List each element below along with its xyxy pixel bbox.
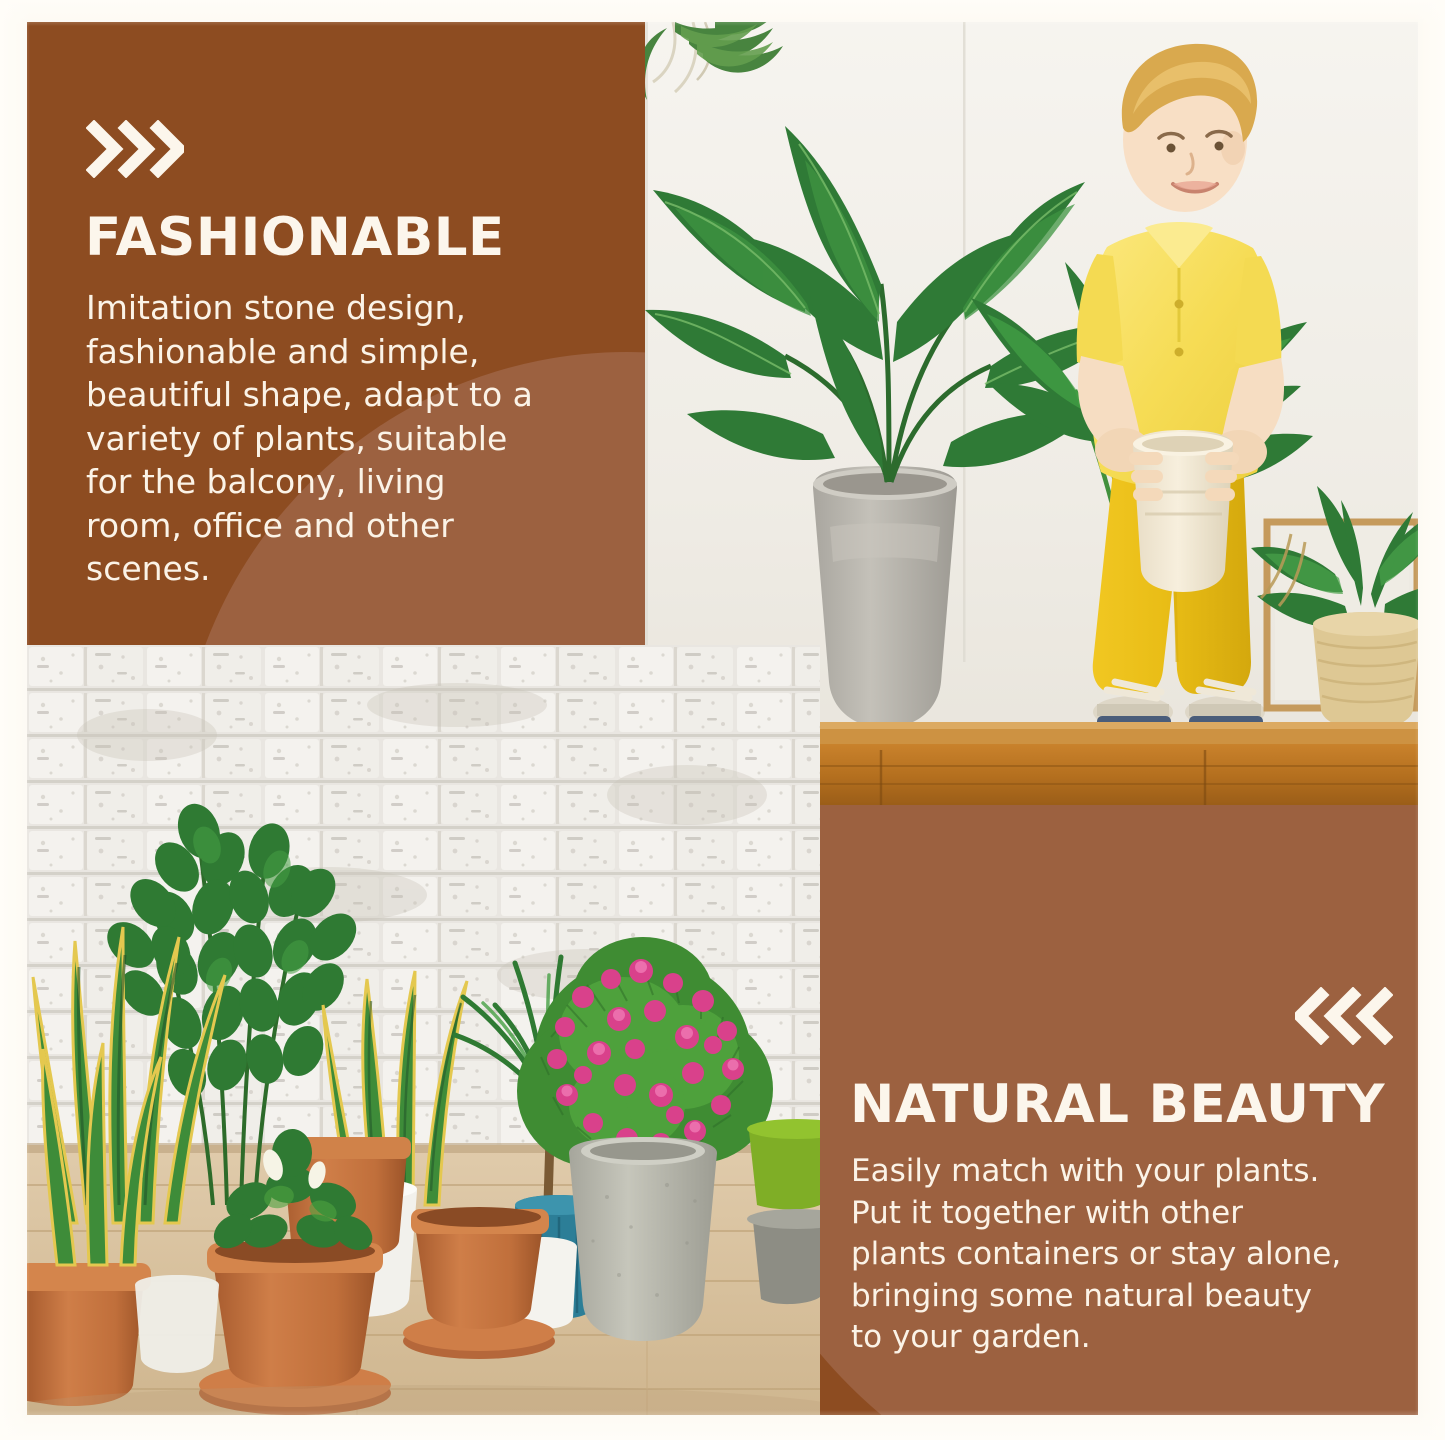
panel-natural-beauty-description: Easily match with your plants. Put it to… — [851, 1151, 1418, 1359]
panel-fashionable-description: Imitation stone design, fashionable and … — [86, 286, 645, 591]
brick-wall-photo-graphic — [27, 645, 820, 1415]
panel-fashionable: FASHIONABLE Imitation stone design, fash… — [27, 22, 645, 645]
plants-against-white-brick-wall-photo — [27, 645, 820, 1415]
product-feature-infographic: FASHIONABLE Imitation stone design, fash… — [0, 0, 1445, 1440]
page-title: FASHIONABLE — [85, 211, 645, 264]
panel-natural-beauty-content: NATURAL BEAUTY Easily match with your pl… — [820, 987, 1418, 1359]
grey-stone-planter-product — [569, 1137, 717, 1341]
grey-stone-planter — [813, 466, 957, 728]
panel-natural-beauty: NATURAL BEAUTY Easily match with your pl… — [820, 805, 1418, 1415]
green-pot-right — [747, 1119, 820, 1210]
chevrons-right-icon — [86, 120, 645, 178]
panel-natural-beauty-title: NATURAL BEAUTY — [850, 1078, 1418, 1131]
panel-fashionable-content: FASHIONABLE Imitation stone design, fash… — [27, 120, 645, 591]
chevrons-left-icon — [820, 987, 1393, 1045]
terracotta-pot-front-right — [403, 1207, 555, 1359]
